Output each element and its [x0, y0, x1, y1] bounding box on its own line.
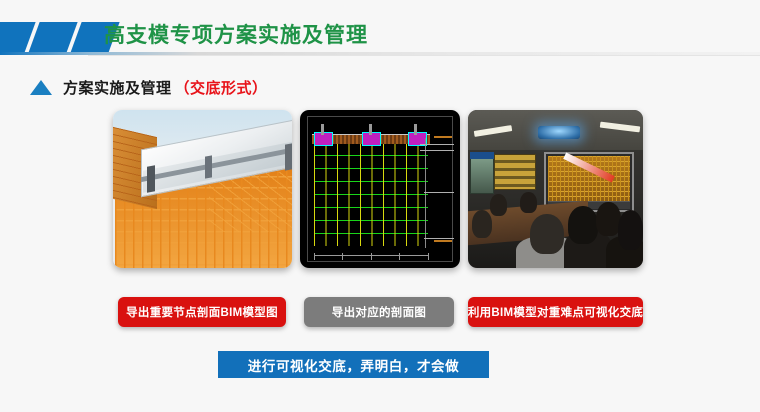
triangle-bullet-icon — [30, 80, 52, 95]
cad-jack-3 — [414, 124, 417, 135]
cad-jack-1 — [321, 124, 324, 135]
cad-jack-2 — [369, 124, 372, 135]
image-bim-section-model — [113, 110, 292, 268]
cad-scaffold-grid — [314, 142, 428, 246]
cad-tick-4 — [399, 253, 400, 260]
photo-projected-highlight — [563, 153, 615, 183]
caption-pill-visual-briefing: 利用BIM模型对重难点可视化交底 — [468, 297, 643, 327]
photo-chandelier — [538, 126, 580, 139]
photo-attendee-head-2 — [520, 192, 537, 213]
photo-attendee-head-1 — [490, 194, 507, 216]
caption-pill-cad-section: 导出对应的剖面图 — [304, 297, 454, 327]
cad-dimension-line-2 — [420, 150, 454, 151]
photo-attendee-head-3 — [530, 214, 564, 254]
section-subtitle: 方案实施及管理 （交底形式） — [30, 76, 268, 98]
cad-tick-5 — [428, 253, 429, 260]
cad-leader-2 — [434, 240, 452, 242]
image-briefing-meeting-photo — [468, 110, 643, 268]
subtitle-main-text: 方案实施及管理 — [63, 77, 172, 98]
photo-attendee-head-4 — [568, 206, 598, 244]
photo-projected-bim-view — [548, 156, 630, 201]
bim-beam-1 — [147, 165, 155, 193]
header-chevron-group — [0, 22, 100, 53]
chevron-shape-2 — [28, 22, 77, 53]
caption-pill-bim-model: 导出重要节点剖面BIM模型图 — [118, 297, 286, 327]
photo-attendee-head-6 — [618, 210, 643, 250]
image-cad-section-drawing — [300, 110, 460, 268]
cad-tick-1 — [314, 253, 315, 260]
page-header: 高支模专项方案实施及管理 — [0, 0, 760, 56]
bim-beam-3 — [285, 143, 292, 170]
bim-beam-2 — [205, 155, 212, 178]
page-title: 高支模专项方案实施及管理 — [104, 19, 368, 49]
cad-leader-1 — [434, 136, 452, 138]
cad-tick-2 — [342, 253, 343, 260]
photo-attendee-head-7 — [472, 210, 492, 238]
cad-dimension-line-1 — [420, 144, 454, 145]
summary-banner: 进行可视化交底，弄明白，才会做 — [218, 351, 489, 378]
cad-dimension-line-3 — [424, 192, 454, 193]
subtitle-highlight-text: （交底形式） — [175, 77, 268, 98]
photo-wall-banner — [470, 152, 494, 159]
cad-dimension-chain-right — [425, 138, 450, 248]
cad-tick-3 — [371, 253, 372, 260]
header-divider-thin — [88, 55, 760, 56]
photo-bookshelf — [494, 154, 536, 190]
cad-dimension-line-4 — [424, 238, 454, 239]
photo-window — [470, 158, 494, 194]
